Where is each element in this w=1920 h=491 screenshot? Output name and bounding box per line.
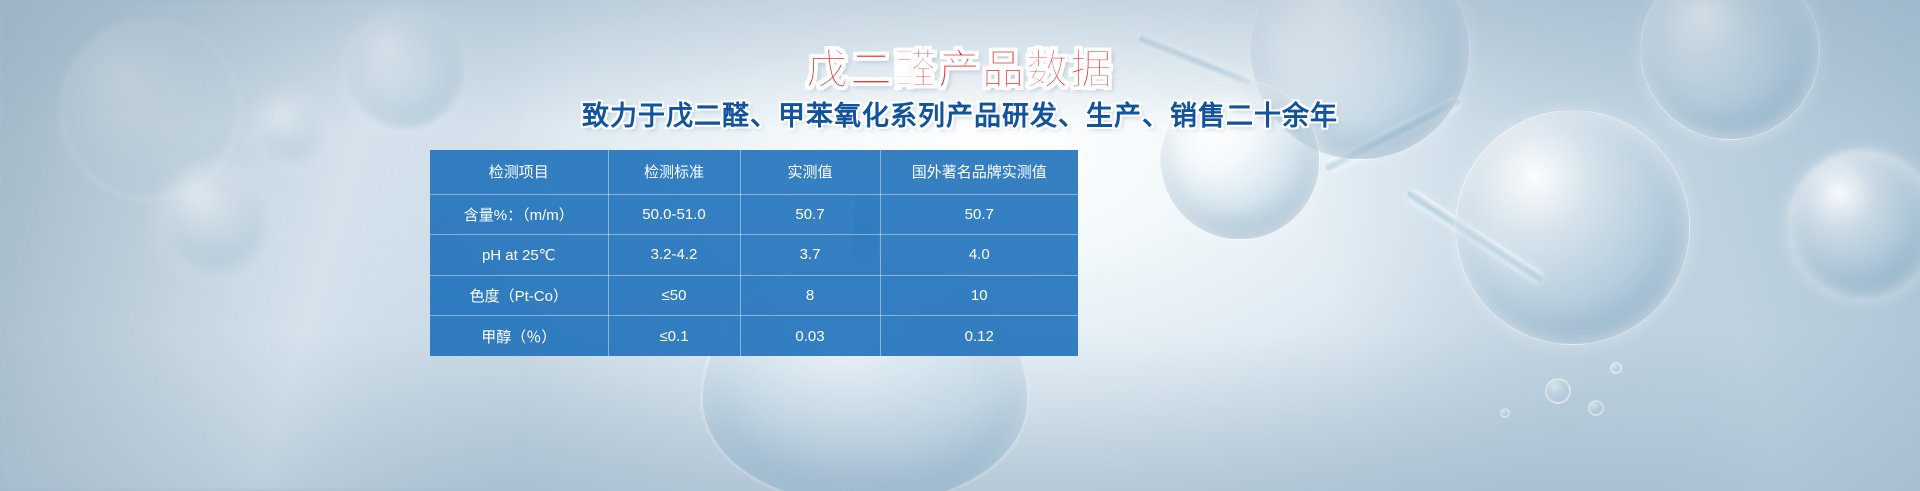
table-header: 检测项目 检测标准 实测值 国外著名品牌实测值: [430, 150, 1078, 194]
banner-image: 戊二醛产品数据 致力于戊二醛、甲苯氧化系列产品研发、生产、销售二十余年 检测项目…: [0, 0, 1920, 491]
cell-foreign-value: 0.12: [880, 316, 1078, 357]
cell-measured-value: 50.7: [740, 194, 880, 235]
cell-test-standard: ≤0.1: [608, 316, 740, 357]
cell-foreign-value: 4.0: [880, 235, 1078, 276]
table-row: 甲醇（％） ≤0.1 0.03 0.12: [430, 316, 1078, 357]
cell-test-item: 含量%：（m/m）: [430, 194, 608, 235]
page-title: 戊二醛产品数据: [0, 48, 1920, 92]
cell-test-standard: ≤50: [608, 275, 740, 316]
table-header-row: 检测项目 检测标准 实测值 国外著名品牌实测值: [430, 150, 1078, 194]
product-data-table: 检测项目 检测标准 实测值 国外著名品牌实测值 含量%：（m/m） 50.0-5…: [430, 150, 1078, 356]
page-subtitle: 致力于戊二醛、甲苯氧化系列产品研发、生产、销售二十余年: [0, 102, 1920, 132]
cell-measured-value: 8: [740, 275, 880, 316]
column-header-foreign-brand-measured-value: 国外著名品牌实测值: [880, 150, 1078, 194]
cell-test-standard: 3.2-4.2: [608, 235, 740, 276]
cell-measured-value: 3.7: [740, 235, 880, 276]
cell-test-standard: 50.0-51.0: [608, 194, 740, 235]
banner-text-block: 戊二醛产品数据 致力于戊二醛、甲苯氧化系列产品研发、生产、销售二十余年: [0, 0, 1920, 132]
cell-test-item: 色度（Pt-Co）: [430, 275, 608, 316]
table-row: pH at 25℃ 3.2-4.2 3.7 4.0: [430, 235, 1078, 276]
table-row: 含量%：（m/m） 50.0-51.0 50.7 50.7: [430, 194, 1078, 235]
column-header-test-item: 检测项目: [430, 150, 608, 194]
product-data-table-container: 检测项目 检测标准 实测值 国外著名品牌实测值 含量%：（m/m） 50.0-5…: [430, 150, 1078, 356]
cell-foreign-value: 10: [880, 275, 1078, 316]
table-row: 色度（Pt-Co） ≤50 8 10: [430, 275, 1078, 316]
column-header-measured-value: 实测值: [740, 150, 880, 194]
cell-test-item: pH at 25℃: [430, 235, 608, 276]
cell-measured-value: 0.03: [740, 316, 880, 357]
column-header-test-standard: 检测标准: [608, 150, 740, 194]
table-body: 含量%：（m/m） 50.0-51.0 50.7 50.7 pH at 25℃ …: [430, 194, 1078, 356]
cell-foreign-value: 50.7: [880, 194, 1078, 235]
cell-test-item: 甲醇（％）: [430, 316, 608, 357]
